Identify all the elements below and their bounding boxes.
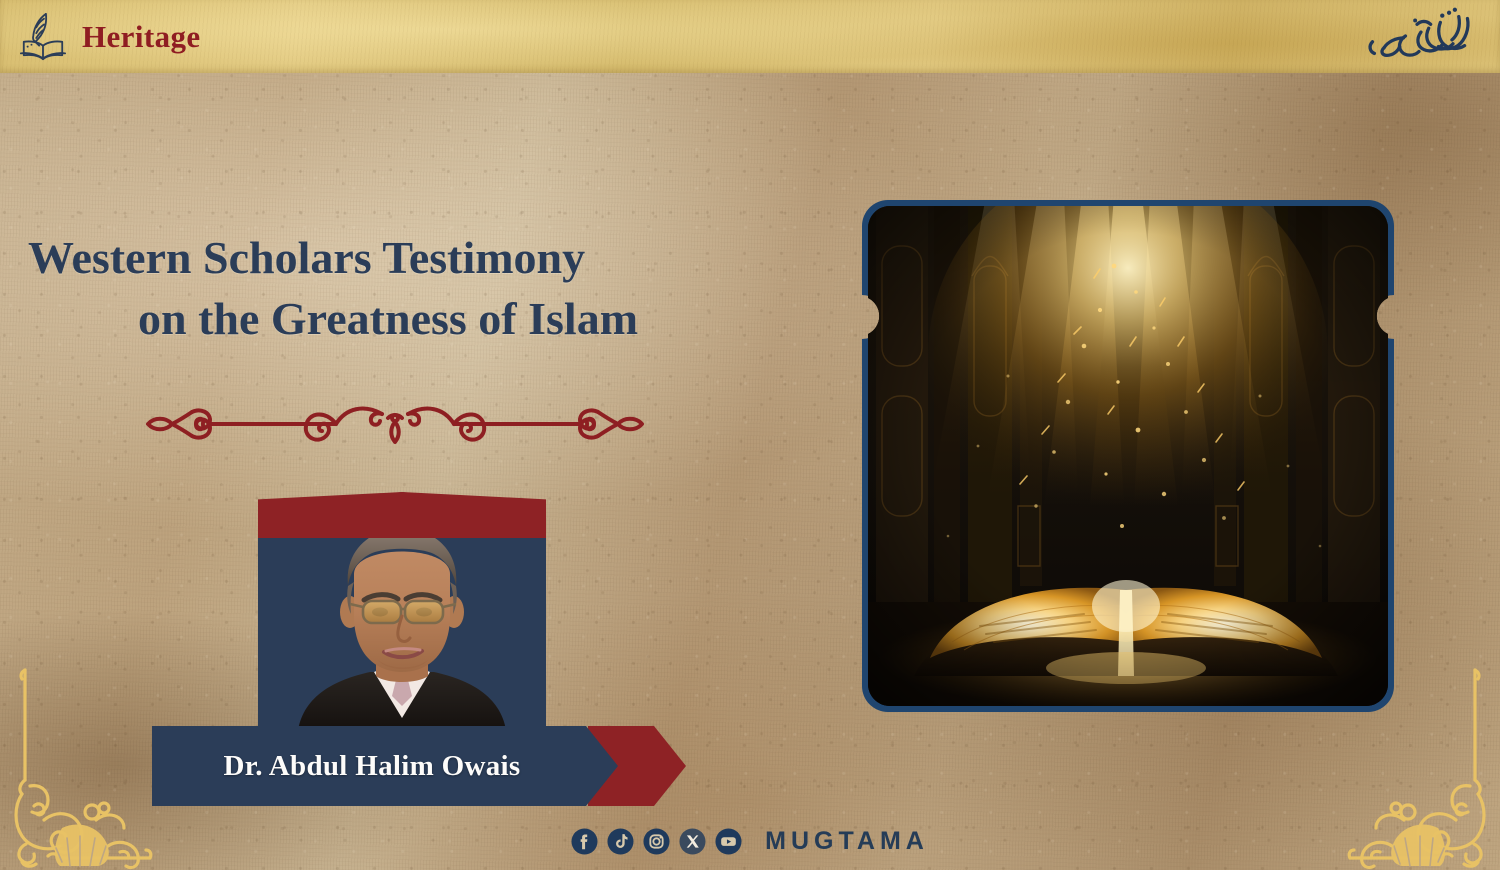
headline-line-2: on the Greatness of Islam xyxy=(28,288,788,350)
book-quill-icon xyxy=(18,11,68,63)
portrait-top-accent xyxy=(258,492,546,538)
facebook-icon[interactable] xyxy=(571,828,598,855)
speaker-name-label: Dr. Abdul Halim Owais xyxy=(152,726,592,806)
page-title: Western Scholars Testimony on the Greatn… xyxy=(28,227,788,350)
category-label: Heritage xyxy=(82,19,201,55)
glowing-open-book-illustration xyxy=(868,206,1388,706)
hero-image-card xyxy=(862,200,1394,712)
instagram-icon[interactable] xyxy=(643,828,670,855)
poster-canvas: Heritage xyxy=(0,0,1500,870)
footer-social-bar: MUGTAMA xyxy=(0,820,1500,862)
x-twitter-icon[interactable] xyxy=(679,828,706,855)
mugtama-arabic-logo xyxy=(1360,3,1478,72)
speaker-name-banner: Dr. Abdul Halim Owais xyxy=(152,726,686,806)
header-band: Heritage xyxy=(0,0,1500,73)
header-texture xyxy=(0,0,1500,73)
speaker-portrait-card xyxy=(258,492,546,730)
hero-image-clip xyxy=(868,206,1388,706)
tiktok-icon[interactable] xyxy=(607,828,634,855)
headline-line-1: Western Scholars Testimony xyxy=(28,227,788,289)
avatar xyxy=(258,520,546,730)
ornamental-divider xyxy=(140,398,650,450)
youtube-icon[interactable] xyxy=(715,828,742,855)
brand-wordmark: MUGTAMA xyxy=(765,827,929,856)
brand-group: Heritage xyxy=(18,11,201,63)
